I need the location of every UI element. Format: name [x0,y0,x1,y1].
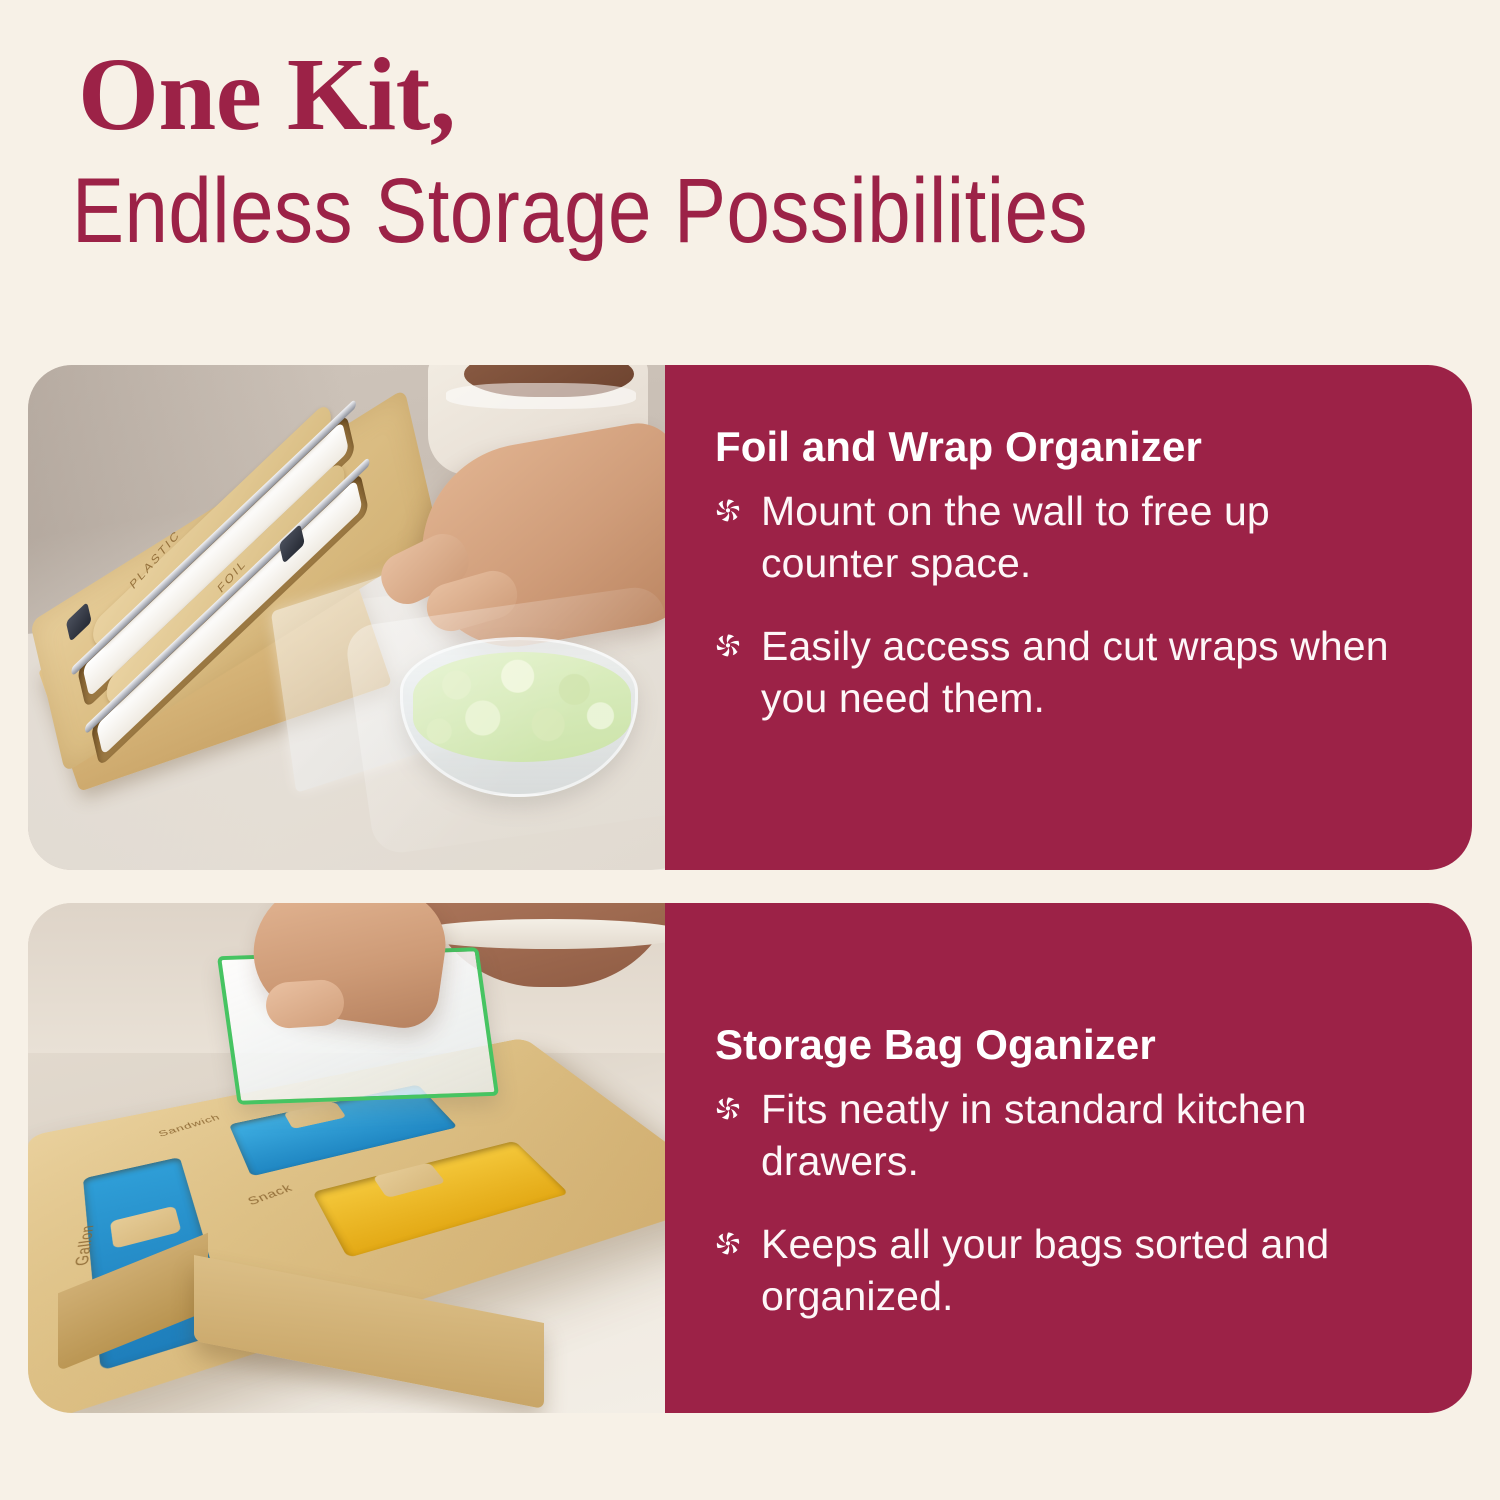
feature-heading: Foil and Wrap Organizer [715,423,1418,471]
list-item-label: Fits neatly in standard kitchen drawers. [761,1083,1418,1188]
feature-panel-foil-and-wrap-organizer: Foil and Wrap Organizer [665,365,1472,870]
list-item: Fits neatly in standard kitchen drawers. [715,1083,1418,1188]
bamboo-bag-organizer: Gallon Sandwich Snack YOLYN [46,1081,626,1411]
page-header: One Kit, Endless Storage Possibilities [0,0,1500,360]
rosette-bullet-icon [715,1230,741,1256]
engraved-label-sandwich: Sandwich [157,1113,223,1139]
feature-heading: Storage Bag Oganizer [715,1021,1418,1069]
bag-well-snack [312,1141,569,1258]
rosette-bullet-icon [715,497,741,523]
feature-card-foil-and-wrap-organizer: PLASTIC FOIL Foil and Wrap Organizer [28,365,1472,870]
feature-bullet-list: Fits neatly in standard kitchen drawers. [715,1083,1418,1323]
list-item: Keeps all your bags sorted and organized… [715,1218,1418,1323]
product-photo-storage-bag-organizer: Gallon Sandwich Snack YOLYN [28,903,665,1413]
list-item: Mount on the wall to free up counter spa… [715,485,1418,590]
list-item-label: Easily access and cut wraps when you nee… [761,620,1418,725]
feature-bullet-list: Mount on the wall to free up counter spa… [715,485,1418,725]
thumb [264,978,345,1029]
feature-card-storage-bag-organizer: Gallon Sandwich Snack YOLYN Storage Bag … [28,903,1472,1413]
rosette-bullet-icon [715,632,741,658]
product-photo-foil-and-wrap-organizer: PLASTIC FOIL [28,365,665,870]
engraved-label-snack: Snack [245,1181,295,1207]
list-item-label: Keeps all your bags sorted and organized… [761,1218,1418,1323]
rosette-bullet-icon [715,1095,741,1121]
list-item: Easily access and cut wraps when you nee… [715,620,1418,725]
feature-panel-storage-bag-organizer: Storage Bag Oganizer [665,903,1472,1413]
page-title-secondary: Endless Storage Possibilities [72,158,1088,264]
slider-cutter-plastic [66,602,92,642]
page-title-primary: One Kit, [78,42,455,148]
plastic-film-overlay [344,584,665,856]
list-item-label: Mount on the wall to free up counter spa… [761,485,1418,590]
